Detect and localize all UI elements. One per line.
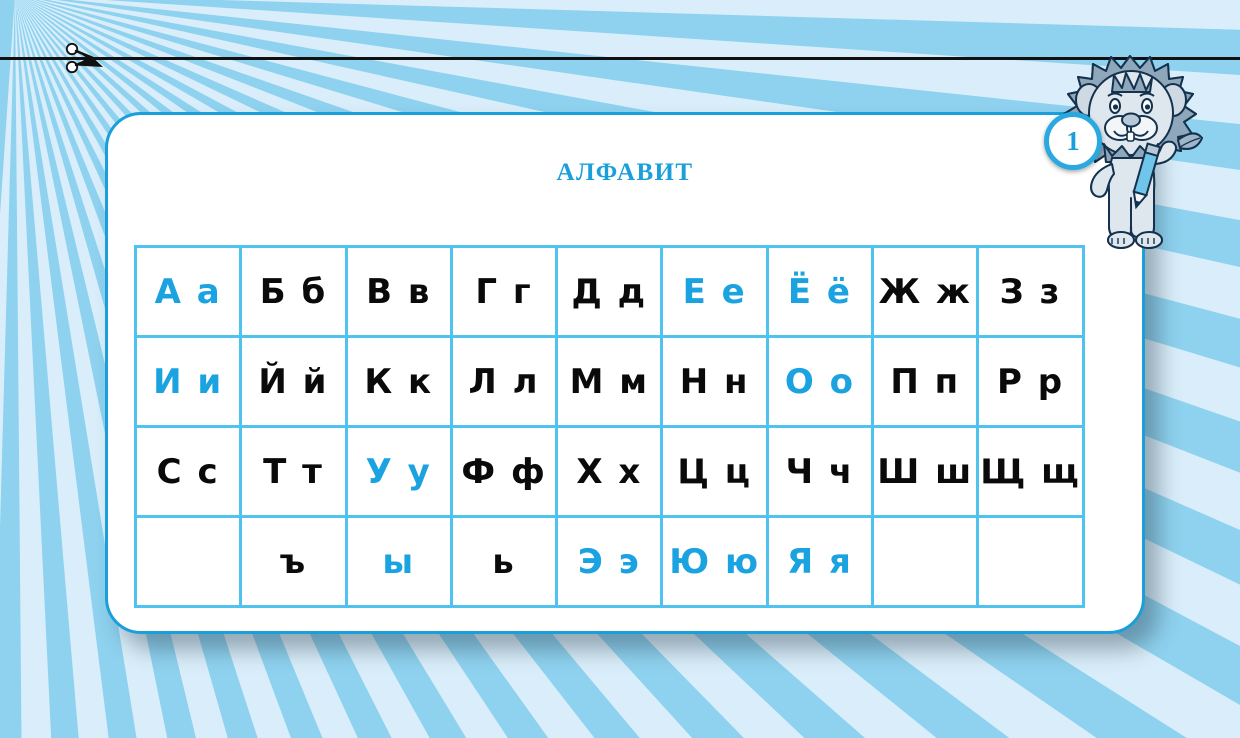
alphabet-cell[interactable]: Н н (662, 337, 767, 427)
alphabet-row: ъыьЭ эЮ юЯ я (136, 517, 1084, 607)
alphabet-cell[interactable]: В в (346, 247, 451, 337)
alphabet-cell[interactable]: Р р (978, 337, 1083, 427)
alphabet-cell[interactable]: И и (136, 337, 241, 427)
alphabet-row: А аБ бВ вГ гД дЕ еЁ ёЖ жЗ з (136, 247, 1084, 337)
alphabet-cell[interactable]: Т т (241, 427, 346, 517)
alphabet-cell[interactable]: Б б (241, 247, 346, 337)
alphabet-cell[interactable]: Г г (451, 247, 556, 337)
alphabet-cell[interactable]: Е е (662, 247, 767, 337)
alphabet-cell[interactable]: У у (346, 427, 451, 517)
alphabet-cell[interactable]: М м (557, 337, 662, 427)
alphabet-cell[interactable]: О о (767, 337, 872, 427)
alphabet-cell[interactable]: Я я (767, 517, 872, 607)
alphabet-table: А аБ бВ вГ гД дЕ еЁ ёЖ жЗ зИ иЙ йК кЛ лМ… (134, 245, 1085, 608)
alphabet-cell[interactable]: А а (136, 247, 241, 337)
worksheet-card: АЛФАВИТ А аБ бВ вГ гД дЕ еЁ ёЖ жЗ зИ иЙ … (105, 112, 1145, 634)
alphabet-cell-empty[interactable] (978, 517, 1083, 607)
alphabet-cell[interactable]: К к (346, 337, 451, 427)
alphabet-cell[interactable]: Щ щ (978, 427, 1083, 517)
alphabet-cell[interactable]: Д д (557, 247, 662, 337)
alphabet-cell[interactable]: Э э (557, 517, 662, 607)
alphabet-row: И иЙ йК кЛ лМ мН нО оП пР р (136, 337, 1084, 427)
alphabet-cell[interactable]: Ц ц (662, 427, 767, 517)
alphabet-row: С сТ тУ уФ фХ хЦ цЧ чШ шЩ щ (136, 427, 1084, 517)
alphabet-cell-empty[interactable] (136, 517, 241, 607)
alphabet-cell[interactable]: Ф ф (451, 427, 556, 517)
alphabet-table-body: А аБ бВ вГ гД дЕ еЁ ёЖ жЗ зИ иЙ йК кЛ лМ… (136, 247, 1084, 607)
alphabet-cell[interactable]: Й й (241, 337, 346, 427)
alphabet-cell[interactable]: Ш ш (873, 427, 978, 517)
page-title: АЛФАВИТ (108, 159, 1142, 187)
alphabet-cell[interactable]: С с (136, 427, 241, 517)
page-number-badge: 1 (1044, 112, 1102, 170)
alphabet-cell[interactable]: ъ (241, 517, 346, 607)
alphabet-cell[interactable]: Л л (451, 337, 556, 427)
alphabet-cell[interactable]: ы (346, 517, 451, 607)
alphabet-cell[interactable]: Ё ё (767, 247, 872, 337)
alphabet-cell[interactable]: Х х (557, 427, 662, 517)
scissors-icon (62, 36, 108, 80)
alphabet-cell[interactable]: ь (451, 517, 556, 607)
alphabet-cell[interactable]: Ю ю (662, 517, 767, 607)
worksheet-page: АЛФАВИТ А аБ бВ вГ гД дЕ еЁ ёЖ жЗ зИ иЙ … (0, 0, 1240, 738)
page-number-badge-label: 1 (1066, 126, 1080, 157)
alphabet-cell[interactable]: Ж ж (873, 247, 978, 337)
alphabet-cell-empty[interactable] (873, 517, 978, 607)
alphabet-cell[interactable]: Ч ч (767, 427, 872, 517)
alphabet-cell[interactable]: П п (873, 337, 978, 427)
